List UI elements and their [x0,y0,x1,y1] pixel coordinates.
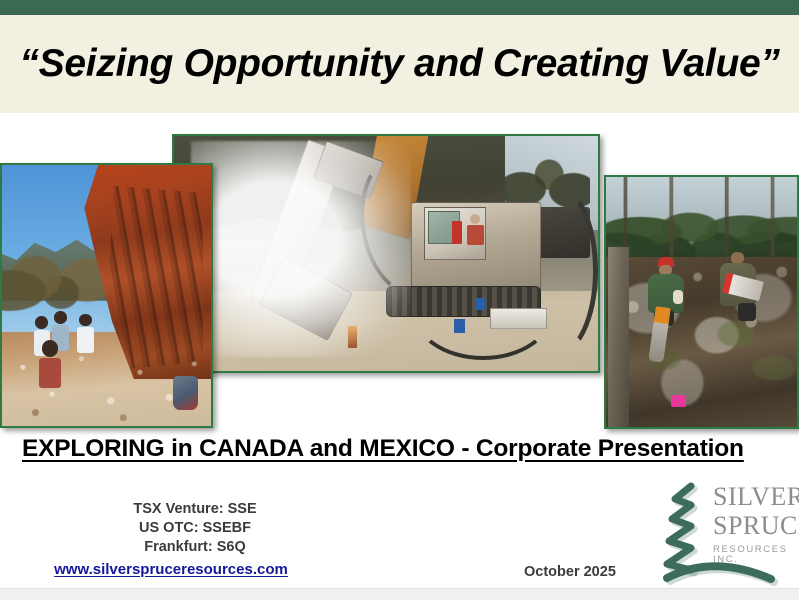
photo-outcrop-mexico [0,163,213,428]
company-logo: SILVER SPRUCE RESOURCES INC. [655,478,799,588]
photo-outcrop-mexico-art [2,165,211,426]
logo-word-spruce: SPRUCE [713,513,799,539]
photo-prospectors-canada [604,175,799,429]
photo-drill-rig [172,134,600,373]
listing-tsx: TSX Venture: SSE [30,500,360,519]
logo-word-resources: RESOURCES INC. [713,545,799,564]
listing-otc: US OTC: SSEBF [30,519,360,538]
stock-listings: TSX Venture: SSE US OTC: SSEBF Frankfurt… [30,500,360,557]
top-green-rule [0,0,799,15]
presentation-date: October 2025 [524,564,616,580]
bottom-strip [0,588,799,600]
website-link[interactable]: www.silverspruceresources.com [30,561,312,578]
photo-prospectors-canada-art [606,177,797,427]
headline: EXPLORING in CANADA and MEXICO - Corpora… [22,435,782,463]
logo-wordmark: SILVER SPRUCE RESOURCES INC. [713,484,799,564]
photo-drill-rig-art [174,136,598,371]
listing-frankfurt: Frankfurt: S6Q [30,538,360,557]
logo-word-silver: SILVER [713,484,799,510]
slide-title: “Seizing Opportunity and Creating Value” [0,15,799,113]
